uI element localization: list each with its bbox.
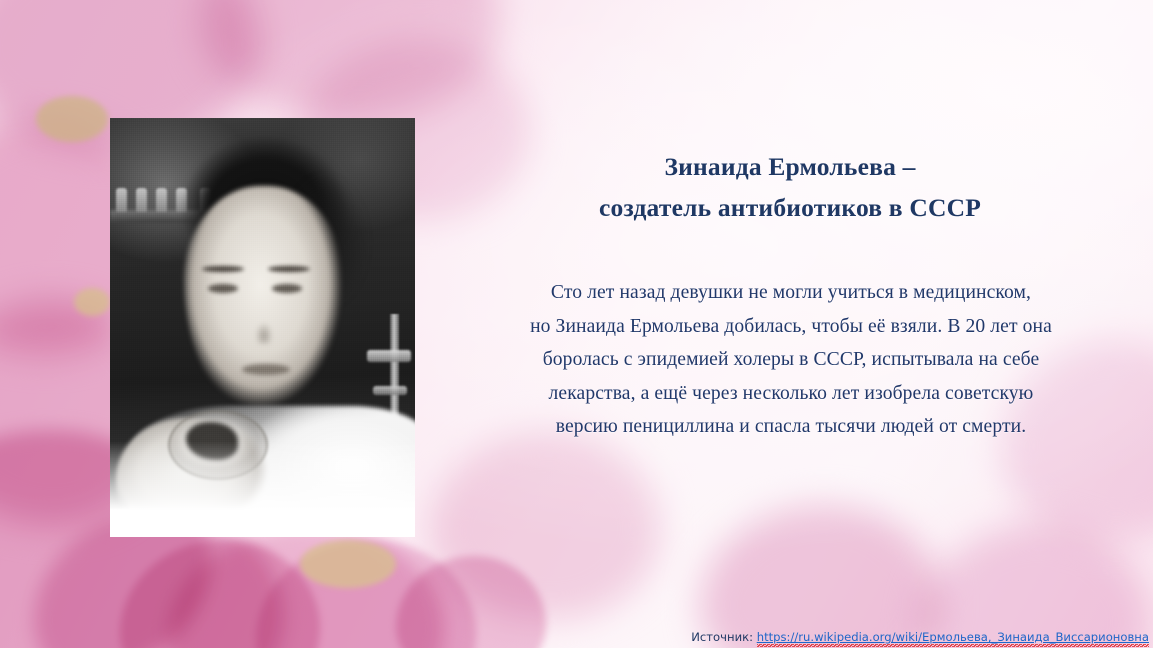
portrait-photo [110, 118, 415, 537]
presentation-slide: Зинаида Ермольева – создатель антибиотик… [0, 0, 1153, 648]
title-line-2: создатель антибиотиков в СССР [470, 187, 1110, 228]
body-line-5: версию пенициллина и спасла тысячи людей… [478, 410, 1104, 444]
body-line-2: но Зинаида Ермольева добилась, чтобы её … [478, 310, 1104, 344]
rose-stamen-bottom-center [300, 540, 396, 588]
photo-bottom-fade [110, 441, 415, 537]
body-line-1: Сто лет назад девушки не могли учиться в… [478, 276, 1104, 310]
source-url-link[interactable]: https://ru.wikipedia.org/wiki/Ермольева,… [757, 630, 1149, 644]
title-line-1: Зинаида Ермольева – [470, 146, 1110, 187]
page-title: Зинаида Ермольева – создатель антибиотик… [470, 146, 1110, 228]
source-url-text: https://ru.wikipedia.org/wiki/Ермольева,… [757, 630, 1149, 644]
source-label: Источник: [691, 630, 753, 644]
source-attribution: Источник: https://ru.wikipedia.org/wiki/… [0, 630, 1149, 644]
body-line-4: лекарства, а ещё через несколько лет изо… [478, 377, 1104, 411]
body-paragraph: Сто лет назад девушки не могли учиться в… [478, 276, 1104, 444]
body-line-3: боролась с эпидемией холеры в СССР, испы… [478, 343, 1104, 377]
blossom-stamen-left [74, 288, 110, 316]
blossom-stamen-top-left [36, 96, 108, 142]
